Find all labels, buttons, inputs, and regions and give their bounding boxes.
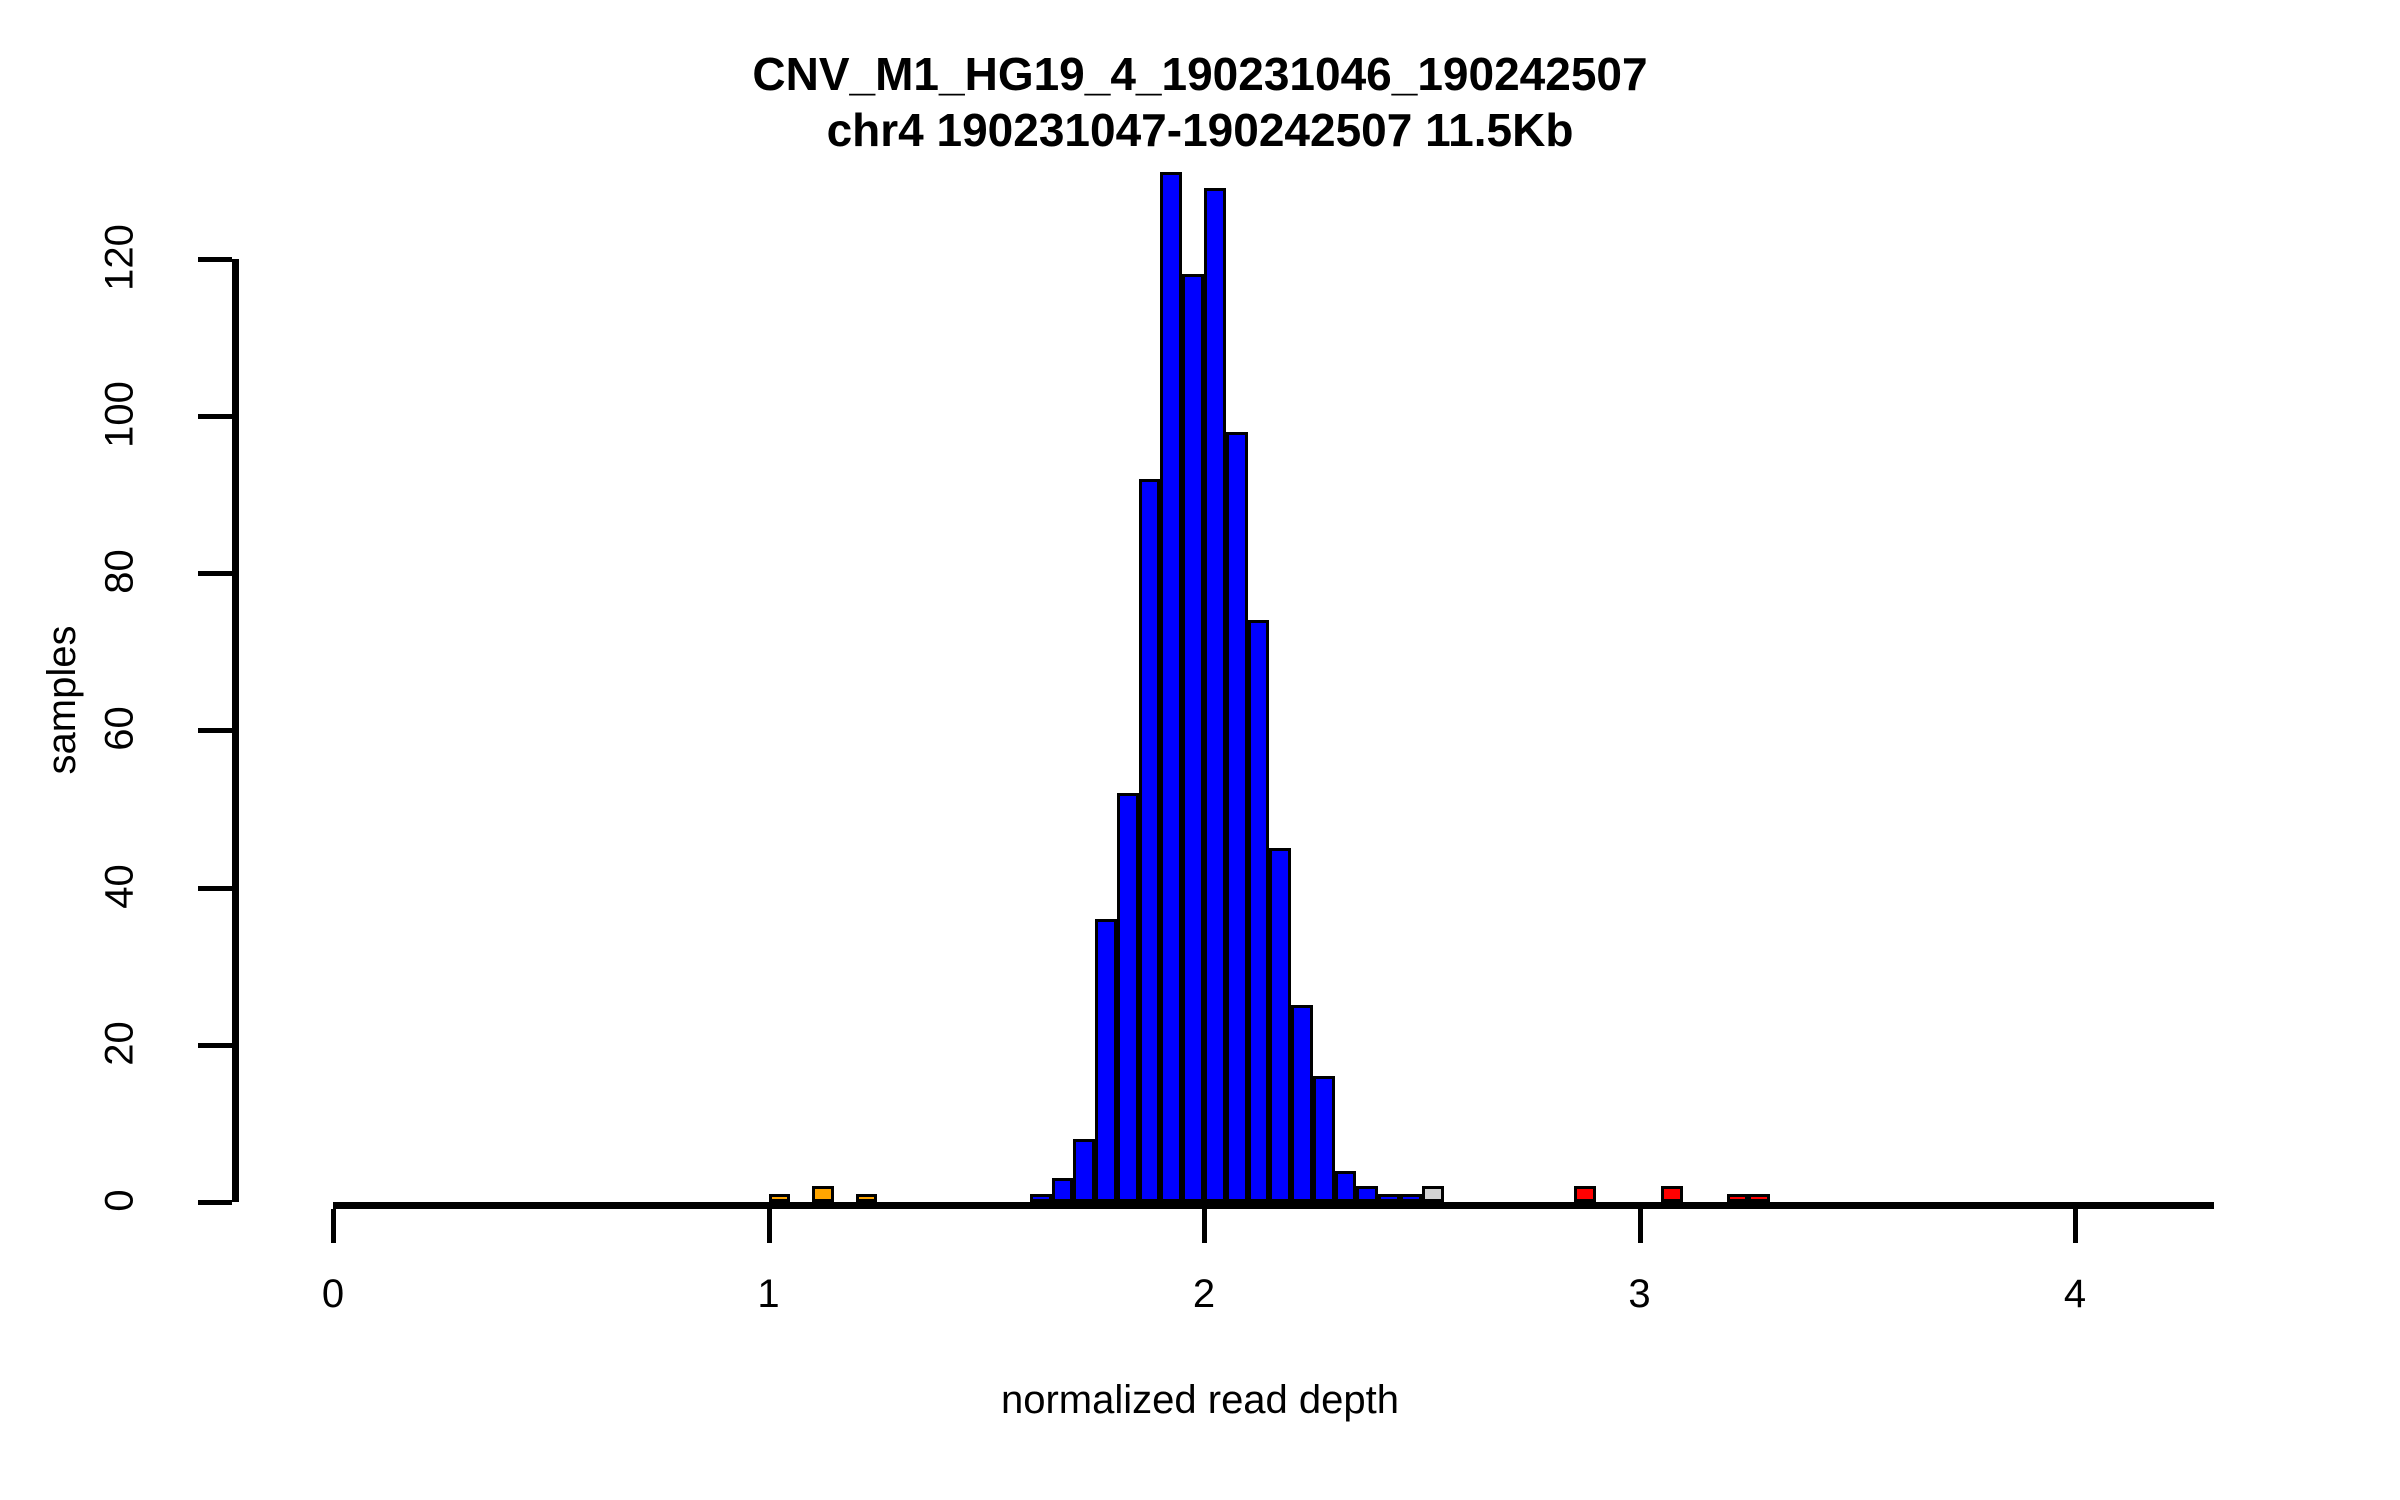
x-axis-tick-label: 0 (283, 1272, 383, 1317)
y-axis-tick-label: 120 (98, 187, 143, 327)
histogram-bar (1073, 1139, 1095, 1202)
x-axis-tick (331, 1209, 336, 1243)
histogram-bar (1400, 1194, 1422, 1202)
histogram-bar (1030, 1194, 1052, 1202)
histogram-bar (1160, 172, 1182, 1202)
histogram-bar (1727, 1194, 1749, 1202)
y-axis-tick-label: 0 (98, 1131, 143, 1271)
histogram-bar (1661, 1186, 1683, 1202)
chart-root: CNV_M1_HG19_4_190231046_190242507 chr4 1… (0, 0, 2400, 1500)
y-axis-tick (198, 1043, 232, 1048)
histogram-bar (1139, 479, 1161, 1202)
y-axis-tick (198, 1200, 232, 1205)
histogram-bar (1052, 1178, 1074, 1202)
y-axis-tick (198, 886, 232, 891)
histogram-bar (1248, 620, 1270, 1202)
plot-area: 01234020406080100120 (0, 0, 2400, 1500)
y-axis-tick-label: 60 (98, 659, 143, 799)
histogram-bar (1356, 1186, 1378, 1202)
x-axis-tick-label: 3 (1590, 1272, 1690, 1317)
x-axis-tick (1202, 1209, 1207, 1243)
y-axis-tick (198, 414, 232, 419)
histogram-bar (812, 1186, 834, 1202)
histogram-bar (1574, 1186, 1596, 1202)
histogram-bar (1204, 188, 1226, 1202)
histogram-bar (1335, 1171, 1357, 1202)
y-axis-tick (198, 728, 232, 733)
y-axis-tick (198, 571, 232, 576)
histogram-bar (1226, 432, 1248, 1202)
y-axis-tick-label: 100 (98, 344, 143, 484)
y-axis-tick-label: 40 (98, 816, 143, 956)
y-axis-tick (198, 257, 232, 262)
x-axis-tick-label: 2 (1154, 1272, 1254, 1317)
y-axis-tick-label: 20 (98, 973, 143, 1113)
histogram-bar (1095, 919, 1117, 1202)
histogram-bar (856, 1194, 878, 1202)
x-axis-tick (2073, 1209, 2078, 1243)
histogram-bar (769, 1194, 791, 1202)
histogram-bar (1422, 1186, 1444, 1202)
x-axis-line (333, 1202, 2214, 1209)
histogram-bar (1269, 848, 1291, 1202)
histogram-bar (1182, 274, 1204, 1202)
y-axis-line (232, 259, 239, 1202)
histogram-bar (1313, 1076, 1335, 1202)
histogram-bar (1748, 1194, 1770, 1202)
x-axis-tick-label: 1 (719, 1272, 819, 1317)
y-axis-tick-label: 80 (98, 502, 143, 642)
x-axis-tick-label: 4 (2025, 1272, 2125, 1317)
x-axis-tick (1638, 1209, 1643, 1243)
histogram-bar (1291, 1005, 1313, 1202)
histogram-bar (1378, 1194, 1400, 1202)
x-axis-tick (767, 1209, 772, 1243)
histogram-bar (1117, 793, 1139, 1202)
